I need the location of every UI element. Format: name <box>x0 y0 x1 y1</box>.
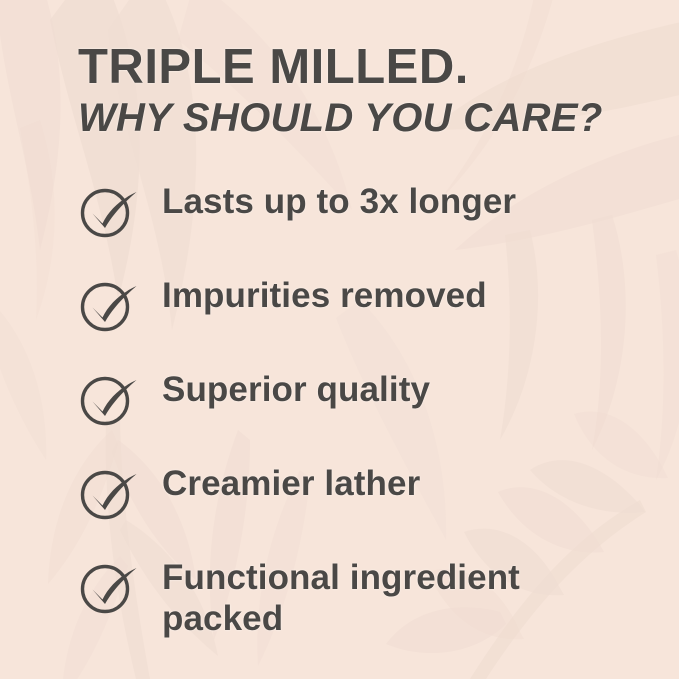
check-circle-icon <box>78 183 140 239</box>
list-item: Creamier lather <box>78 463 639 521</box>
benefit-label: Creamier lather <box>162 463 420 504</box>
list-item: Lasts up to 3x longer <box>78 181 639 239</box>
list-item: Functional ingredient packed <box>78 557 639 640</box>
benefit-label: Functional ingredient packed <box>162 557 592 640</box>
product-benefits-poster: TRIPLE MILLED. WHY SHOULD YOU CARE? Last… <box>0 0 679 679</box>
check-circle-icon <box>78 371 140 427</box>
page-subtitle: WHY SHOULD YOU CARE? <box>78 96 639 140</box>
benefit-label: Impurities removed <box>162 275 487 316</box>
check-circle-icon <box>78 277 140 333</box>
poster-content: TRIPLE MILLED. WHY SHOULD YOU CARE? Last… <box>0 0 679 679</box>
check-circle-icon <box>78 465 140 521</box>
list-item: Impurities removed <box>78 275 639 333</box>
check-circle-icon <box>78 559 140 615</box>
benefit-label: Superior quality <box>162 369 430 410</box>
benefits-list: Lasts up to 3x longer Impurities removed <box>78 181 639 640</box>
list-item: Superior quality <box>78 369 639 427</box>
page-title: TRIPLE MILLED. <box>78 42 639 94</box>
benefit-label: Lasts up to 3x longer <box>162 181 516 222</box>
